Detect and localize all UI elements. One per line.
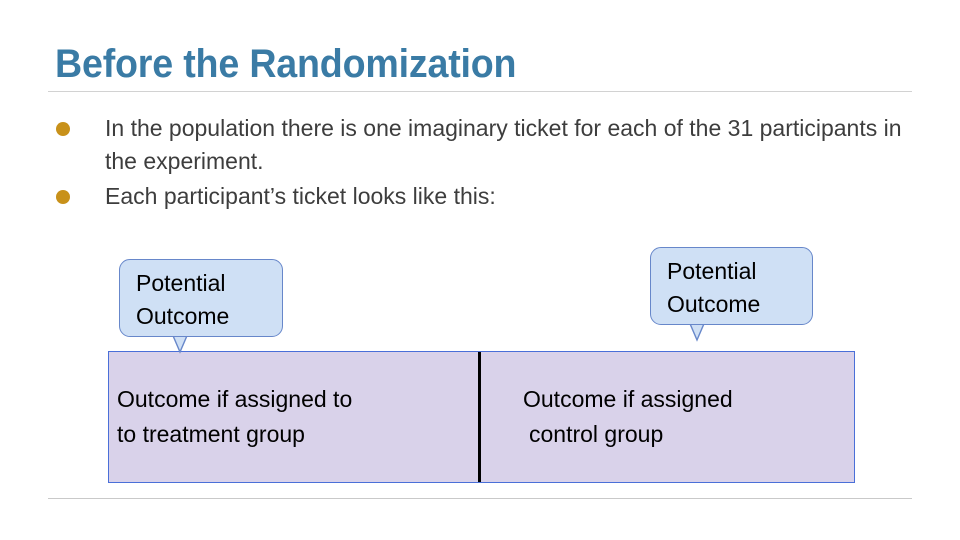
- callout-line-2: Outcome: [136, 300, 282, 333]
- footer-divider: [48, 498, 912, 499]
- callout-tail-left-icon: [158, 335, 202, 355]
- ticket-control-line-2: control group: [523, 417, 854, 452]
- ticket-control-line-1: Outcome if assigned: [523, 382, 854, 417]
- ticket-diagram: Outcome if assigned to to treatment grou…: [108, 351, 855, 483]
- bullet-list: In the population there is one imaginary…: [56, 112, 916, 215]
- ticket-treatment-line-2: to treatment group: [117, 417, 478, 452]
- ticket-treatment-line-1: Outcome if assigned to: [117, 382, 478, 417]
- callout-potential-outcome-right: Potential Outcome: [650, 247, 813, 325]
- list-item: Each participant’s ticket looks like thi…: [56, 180, 916, 213]
- bullet-dot-icon: [56, 122, 70, 136]
- callout-line-2: Outcome: [667, 288, 812, 321]
- callout-potential-outcome-left: Potential Outcome: [119, 259, 283, 337]
- list-item-label: Each participant’s ticket looks like thi…: [105, 180, 916, 213]
- bullet-dot-icon: [56, 190, 70, 204]
- ticket-cell-treatment: Outcome if assigned to to treatment grou…: [109, 352, 481, 482]
- ticket-cell-control: Outcome if assigned control group: [481, 352, 854, 482]
- list-item: In the population there is one imaginary…: [56, 112, 916, 178]
- list-item-label: In the population there is one imaginary…: [105, 112, 916, 178]
- title-divider: [48, 91, 912, 92]
- callout-line-1: Potential: [136, 267, 282, 300]
- callout-line-1: Potential: [667, 255, 812, 288]
- slide-canvas: Before the Randomization In the populati…: [0, 0, 960, 540]
- callout-tail-right-icon: [675, 323, 719, 343]
- page-title: Before the Randomization: [55, 40, 863, 88]
